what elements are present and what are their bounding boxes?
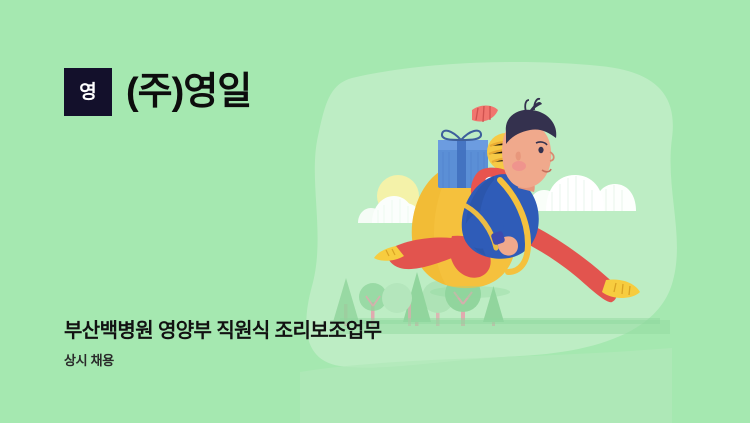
employment-type: 상시 채용: [64, 353, 381, 369]
company-name: (주)영일: [126, 73, 251, 111]
job-title: 부산백병원 영양부 직원식 조리보조업무: [64, 319, 381, 343]
cheek-blush: [512, 161, 526, 171]
job-posting-banner: 영 (주)영일 부산백병원 영양부 직원식 조리보조업무 상시 채용: [0, 0, 750, 423]
shadow: [430, 286, 510, 298]
company-logo-initial: 영: [79, 83, 96, 102]
eye: [538, 147, 543, 153]
company-header: 영 (주)영일: [64, 68, 251, 116]
job-info: 부산백병원 영양부 직원식 조리보조업무 상시 채용: [64, 319, 381, 369]
company-logo-badge: 영: [64, 68, 112, 116]
